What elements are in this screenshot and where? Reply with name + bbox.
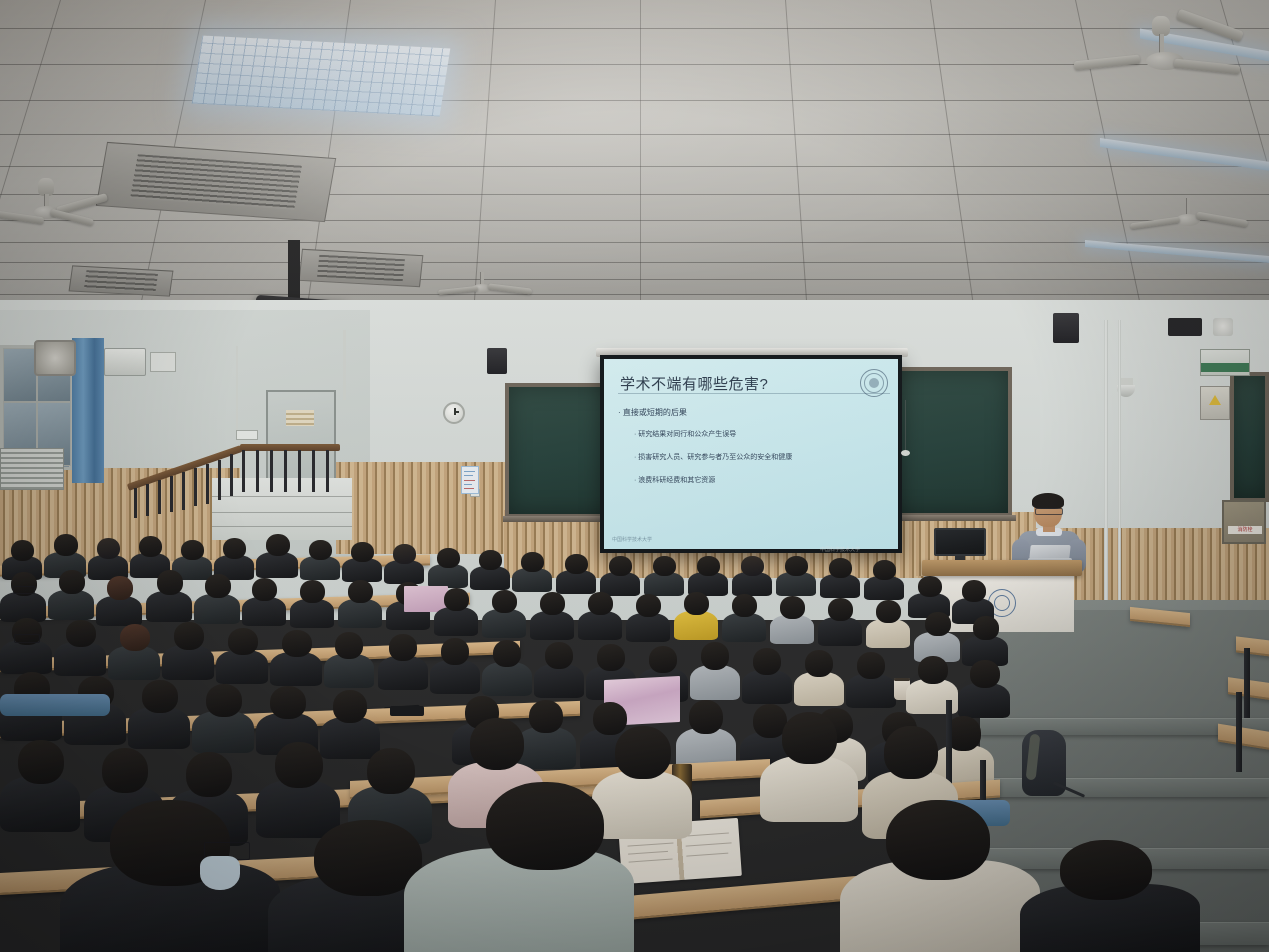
eyeglasses-icon <box>14 634 40 643</box>
wood-wainscot <box>336 462 516 554</box>
student <box>846 652 896 706</box>
student <box>290 580 334 626</box>
stair-railing <box>128 440 338 522</box>
student <box>428 548 468 586</box>
conduit-pipe <box>343 330 346 400</box>
desk-leg <box>1244 648 1250 718</box>
student <box>470 550 510 588</box>
conduit-pipe <box>1118 320 1121 600</box>
student <box>0 572 46 620</box>
smartphone <box>390 706 424 716</box>
student <box>840 800 1040 952</box>
projection-screen: 学术不端有哪些危害? · 直接或短期的后果 · 研究结果对同行和公众产生误导 ·… <box>600 355 902 553</box>
wall-control-box <box>150 352 176 372</box>
student <box>644 556 684 594</box>
wall-socket <box>236 430 258 440</box>
student <box>732 556 772 594</box>
student <box>578 592 622 638</box>
electrical-panel <box>1200 386 1230 420</box>
student <box>0 618 52 672</box>
student <box>342 542 382 580</box>
wall-light <box>1213 318 1233 336</box>
student <box>794 650 844 704</box>
warning-triangle-icon <box>1209 395 1221 405</box>
cabinet-label: 消防栓 <box>1228 526 1262 534</box>
slide-bullet: · 损害研究人员、研究参与者乃至公众的安全和健康 <box>634 452 792 462</box>
student <box>88 538 128 578</box>
student <box>324 632 374 686</box>
student <box>864 560 904 598</box>
camera-mount <box>1119 378 1133 385</box>
student <box>674 592 718 638</box>
presentation-slide: 学术不端有哪些危害? · 直接或短期的后果 · 研究结果对同行和公众产生误导 ·… <box>604 359 898 549</box>
slide-footer-left: 中国科学技术大学 <box>612 536 652 543</box>
student <box>818 598 862 644</box>
student <box>216 628 268 682</box>
student <box>776 556 816 594</box>
slide-bullet-main: · 直接或短期的后果 <box>618 407 687 418</box>
student <box>128 680 190 746</box>
slide-bullet: · 浪费科研经费和其它资源 <box>634 475 715 485</box>
student <box>600 556 640 594</box>
student <box>482 590 526 636</box>
face-mask <box>200 856 240 890</box>
notice-poster <box>461 466 479 494</box>
slide-title: 学术不端有哪些危害? <box>620 373 768 394</box>
student <box>60 800 280 952</box>
student <box>770 596 814 642</box>
student <box>338 580 382 626</box>
student <box>820 558 860 596</box>
student <box>194 574 240 622</box>
university-seal-icon <box>860 369 888 397</box>
speaker <box>1168 318 1202 336</box>
student <box>908 576 950 616</box>
chalkboard <box>1230 372 1269 502</box>
conduit-pipe <box>1104 320 1108 600</box>
student <box>742 648 792 702</box>
student <box>556 554 596 592</box>
window-curtain <box>72 338 104 483</box>
student <box>256 534 298 578</box>
student <box>54 620 106 674</box>
student <box>434 588 478 634</box>
wall-cabinet: 消防栓 <box>1222 500 1266 544</box>
student <box>626 594 670 640</box>
eyeglasses-icon <box>13 586 35 594</box>
student <box>866 600 910 646</box>
conduit-pipe <box>236 346 238 430</box>
student <box>404 782 634 952</box>
air-conditioner <box>104 348 146 376</box>
hanging-cord <box>905 400 906 452</box>
student <box>690 642 740 698</box>
tier-step <box>975 778 1269 797</box>
student <box>192 684 254 750</box>
slide-bullet: · 研究结果对同行和公众产生误导 <box>634 429 736 439</box>
chair <box>0 694 110 716</box>
student <box>214 538 254 578</box>
student <box>722 594 766 640</box>
student <box>962 616 1008 664</box>
lecture-hall-photo: 学术不端有哪些危害? · 直接或短期的后果 · 研究结果对同行和公众产生误导 ·… <box>0 0 1269 952</box>
student <box>430 638 480 692</box>
student <box>958 660 1010 716</box>
student <box>1020 840 1200 952</box>
student <box>482 640 532 694</box>
student <box>108 624 160 678</box>
podium-monitor <box>934 528 986 562</box>
student <box>688 556 728 594</box>
student <box>48 570 94 618</box>
eyeglasses-icon <box>1035 508 1063 515</box>
student <box>914 612 960 660</box>
student <box>162 622 214 678</box>
student <box>384 544 424 582</box>
student <box>270 630 322 684</box>
wall-clock <box>443 402 465 424</box>
wall-vent <box>0 448 64 490</box>
student <box>300 540 340 578</box>
student <box>96 576 142 624</box>
desk-leg <box>1236 692 1242 772</box>
backpack <box>1022 730 1066 796</box>
wall-fan <box>34 340 76 376</box>
student <box>534 642 584 696</box>
student <box>242 578 286 624</box>
student <box>512 552 552 590</box>
wall-equipment-box <box>1200 349 1250 376</box>
student <box>378 634 428 688</box>
speaker <box>1053 313 1079 343</box>
speaker <box>487 348 507 374</box>
student <box>146 570 192 620</box>
student <box>530 592 574 638</box>
